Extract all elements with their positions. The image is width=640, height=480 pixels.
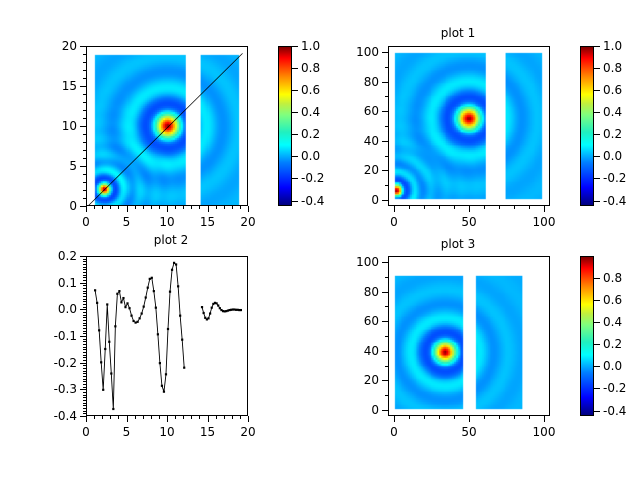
y-major-tick bbox=[80, 416, 86, 417]
x-minor-tick bbox=[191, 416, 192, 419]
y-minor-tick bbox=[83, 275, 86, 276]
y-minor-tick bbox=[83, 118, 86, 119]
x-minor-tick bbox=[199, 206, 200, 209]
y-minor-tick bbox=[83, 333, 86, 334]
panel-title-bottom-left: plot 2 bbox=[96, 234, 246, 246]
colorbar-tick-label: 0.2 bbox=[301, 128, 320, 140]
x-minor-tick bbox=[232, 416, 233, 419]
colorbar-top-right bbox=[580, 46, 594, 206]
x-minor-tick bbox=[175, 416, 176, 419]
colorbar-tick bbox=[292, 156, 298, 157]
y-minor-tick bbox=[83, 102, 86, 103]
x-minor-tick bbox=[191, 206, 192, 209]
colorbar-tick-label: -0.2 bbox=[603, 382, 626, 394]
x-minor-tick bbox=[514, 416, 515, 419]
axes-bottom-left[interactable] bbox=[86, 256, 248, 416]
colorbar-tick-label: 0.8 bbox=[301, 62, 320, 74]
y-minor-tick bbox=[83, 341, 86, 342]
x-major-tick bbox=[248, 416, 249, 422]
colorbar-tick bbox=[594, 156, 600, 157]
y-minor-tick bbox=[83, 405, 86, 406]
y-minor-tick bbox=[83, 293, 86, 294]
x-tick-label: 100 bbox=[519, 426, 569, 438]
y-minor-tick bbox=[83, 352, 86, 353]
x-tick-label: 50 bbox=[444, 426, 494, 438]
x-minor-tick bbox=[118, 206, 119, 209]
y-minor-tick bbox=[83, 259, 86, 260]
y-major-tick bbox=[80, 126, 86, 127]
x-major-tick bbox=[208, 206, 209, 212]
x-major-tick bbox=[544, 416, 545, 422]
colorbar-tick bbox=[292, 90, 298, 91]
x-minor-tick bbox=[216, 416, 217, 419]
x-minor-tick bbox=[484, 206, 485, 209]
colorbar-tick-label: 0.0 bbox=[603, 150, 622, 162]
x-minor-tick bbox=[454, 416, 455, 419]
y-minor-tick bbox=[83, 190, 86, 191]
colorbar-tick bbox=[594, 344, 600, 345]
y-minor-tick bbox=[83, 315, 86, 316]
y-minor-tick bbox=[83, 150, 86, 151]
y-minor-tick bbox=[83, 397, 86, 398]
colorbar-tick bbox=[594, 201, 600, 202]
y-minor-tick bbox=[83, 288, 86, 289]
y-minor-tick bbox=[83, 384, 86, 385]
y-major-tick bbox=[80, 46, 86, 47]
x-major-tick bbox=[127, 206, 128, 212]
x-minor-tick bbox=[110, 416, 111, 419]
y-tick-label: 20 bbox=[332, 374, 379, 386]
colorbar-tick-label: 0.8 bbox=[603, 272, 622, 284]
x-minor-tick bbox=[151, 206, 152, 209]
y-minor-tick bbox=[83, 357, 86, 358]
y-major-tick bbox=[80, 363, 86, 364]
x-minor-tick bbox=[94, 206, 95, 209]
colorbar-tick-label: 0.2 bbox=[603, 128, 622, 140]
x-major-tick bbox=[394, 416, 395, 422]
y-minor-tick bbox=[385, 67, 388, 68]
x-minor-tick bbox=[454, 206, 455, 209]
y-tick-label: -0.1 bbox=[30, 330, 77, 342]
y-major-tick bbox=[382, 141, 388, 142]
colorbar-tick bbox=[594, 134, 600, 135]
x-major-tick bbox=[167, 206, 168, 212]
y-tick-label: 0 bbox=[332, 404, 379, 416]
y-minor-tick bbox=[83, 291, 86, 292]
y-major-tick bbox=[80, 86, 86, 87]
x-minor-tick bbox=[102, 206, 103, 209]
y-tick-label: 0 bbox=[332, 194, 379, 206]
x-minor-tick bbox=[183, 416, 184, 419]
x-major-tick bbox=[167, 416, 168, 422]
y-tick-label: 60 bbox=[332, 105, 379, 117]
y-minor-tick bbox=[83, 387, 86, 388]
y-minor-tick bbox=[83, 413, 86, 414]
y-minor-tick bbox=[83, 94, 86, 95]
overlay-diagonal-line bbox=[87, 47, 248, 206]
y-minor-tick bbox=[385, 336, 388, 337]
y-minor-tick bbox=[83, 349, 86, 350]
y-major-tick bbox=[382, 111, 388, 112]
y-minor-tick bbox=[83, 355, 86, 356]
y-tick-label: 80 bbox=[332, 286, 379, 298]
x-minor-tick bbox=[499, 206, 500, 209]
x-minor-tick bbox=[224, 416, 225, 419]
colorbar-tick bbox=[594, 300, 600, 301]
y-minor-tick bbox=[83, 368, 86, 369]
y-tick-label: -0.3 bbox=[30, 383, 77, 395]
colorbar-tick-label: -0.4 bbox=[603, 195, 626, 207]
y-tick-label: 0.1 bbox=[30, 277, 77, 289]
colorbar-tick bbox=[292, 201, 298, 202]
x-minor-tick bbox=[439, 416, 440, 419]
x-minor-tick bbox=[110, 206, 111, 209]
y-minor-tick bbox=[83, 158, 86, 159]
x-major-tick bbox=[86, 416, 87, 422]
x-major-tick bbox=[127, 416, 128, 422]
x-minor-tick bbox=[529, 206, 530, 209]
x-tick-label: 20 bbox=[223, 426, 273, 438]
y-minor-tick bbox=[83, 182, 86, 183]
colorbar-tick bbox=[594, 366, 600, 367]
y-major-tick bbox=[382, 321, 388, 322]
colorbar-tick bbox=[594, 411, 600, 412]
y-tick-label: 80 bbox=[332, 76, 379, 88]
y-major-tick bbox=[80, 336, 86, 337]
x-minor-tick bbox=[143, 206, 144, 209]
x-tick-label: 50 bbox=[444, 216, 494, 228]
colorbar-tick bbox=[292, 178, 298, 179]
y-tick-label: 5 bbox=[30, 160, 77, 172]
y-minor-tick bbox=[83, 312, 86, 313]
y-major-tick bbox=[80, 389, 86, 390]
y-minor-tick bbox=[83, 379, 86, 380]
y-minor-tick bbox=[83, 269, 86, 270]
y-major-tick bbox=[382, 200, 388, 201]
y-major-tick bbox=[382, 262, 388, 263]
colorbar-tick bbox=[594, 112, 600, 113]
y-minor-tick bbox=[83, 261, 86, 262]
x-minor-tick bbox=[232, 206, 233, 209]
y-minor-tick bbox=[83, 54, 86, 55]
y-tick-label: 100 bbox=[332, 256, 379, 268]
y-major-tick bbox=[382, 82, 388, 83]
x-minor-tick bbox=[135, 206, 136, 209]
x-minor-tick bbox=[135, 416, 136, 419]
y-minor-tick bbox=[83, 360, 86, 361]
y-tick-label: 60 bbox=[332, 315, 379, 327]
x-minor-tick bbox=[529, 416, 530, 419]
x-tick-label: 20 bbox=[223, 216, 273, 228]
x-minor-tick bbox=[151, 416, 152, 419]
y-tick-label: 0 bbox=[30, 200, 77, 212]
x-minor-tick bbox=[102, 416, 103, 419]
colorbar-tick-label: 0.0 bbox=[301, 150, 320, 162]
y-minor-tick bbox=[83, 267, 86, 268]
y-minor-tick bbox=[83, 317, 86, 318]
y-tick-label: 10 bbox=[30, 120, 77, 132]
colorbar-tick-label: 0.6 bbox=[603, 294, 622, 306]
colorbar-tick-label: -0.2 bbox=[603, 172, 626, 184]
x-major-tick bbox=[544, 206, 545, 212]
x-minor-tick bbox=[159, 206, 160, 209]
y-minor-tick bbox=[385, 156, 388, 157]
x-minor-tick bbox=[409, 416, 410, 419]
x-tick-label: 100 bbox=[519, 216, 569, 228]
y-minor-tick bbox=[83, 307, 86, 308]
x-minor-tick bbox=[199, 416, 200, 419]
colorbar-tick bbox=[594, 178, 600, 179]
y-minor-tick bbox=[83, 264, 86, 265]
y-minor-tick bbox=[83, 62, 86, 63]
colorbar-tick bbox=[594, 90, 600, 91]
y-major-tick bbox=[382, 380, 388, 381]
y-major-tick bbox=[80, 309, 86, 310]
y-minor-tick bbox=[83, 323, 86, 324]
y-tick-label: 100 bbox=[332, 46, 379, 58]
y-tick-label: 40 bbox=[332, 135, 379, 147]
y-minor-tick bbox=[83, 376, 86, 377]
y-minor-tick bbox=[83, 301, 86, 302]
x-minor-tick bbox=[224, 206, 225, 209]
colorbar-tick-label: 0.4 bbox=[603, 316, 622, 328]
y-minor-tick bbox=[83, 365, 86, 366]
x-minor-tick bbox=[514, 206, 515, 209]
y-minor-tick bbox=[83, 395, 86, 396]
colorbar-tick bbox=[594, 68, 600, 69]
y-minor-tick bbox=[83, 142, 86, 143]
colorbar-tick bbox=[594, 388, 600, 389]
x-major-tick bbox=[469, 206, 470, 212]
y-major-tick bbox=[382, 170, 388, 171]
y-major-tick bbox=[382, 292, 388, 293]
colorbar-tick-label: 1.0 bbox=[603, 40, 622, 52]
x-minor-tick bbox=[409, 206, 410, 209]
line-series-bottom-left bbox=[87, 257, 248, 416]
y-minor-tick bbox=[83, 411, 86, 412]
y-major-tick bbox=[80, 166, 86, 167]
y-minor-tick bbox=[385, 395, 388, 396]
y-major-tick bbox=[382, 52, 388, 53]
axes-top-right[interactable] bbox=[388, 46, 550, 206]
x-minor-tick bbox=[183, 206, 184, 209]
y-major-tick bbox=[382, 410, 388, 411]
y-minor-tick bbox=[83, 403, 86, 404]
x-minor-tick bbox=[240, 416, 241, 419]
y-minor-tick bbox=[83, 408, 86, 409]
y-minor-tick bbox=[83, 381, 86, 382]
colorbar-tick-label: 0.6 bbox=[603, 84, 622, 96]
x-major-tick bbox=[208, 416, 209, 422]
x-minor-tick bbox=[118, 416, 119, 419]
y-minor-tick bbox=[83, 285, 86, 286]
y-minor-tick bbox=[385, 126, 388, 127]
y-minor-tick bbox=[83, 174, 86, 175]
y-minor-tick bbox=[83, 134, 86, 135]
y-minor-tick bbox=[385, 277, 388, 278]
y-minor-tick bbox=[83, 392, 86, 393]
y-minor-tick bbox=[83, 339, 86, 340]
y-minor-tick bbox=[385, 366, 388, 367]
y-minor-tick bbox=[385, 306, 388, 307]
y-major-tick bbox=[80, 283, 86, 284]
x-minor-tick bbox=[424, 416, 425, 419]
y-minor-tick bbox=[83, 299, 86, 300]
y-minor-tick bbox=[83, 371, 86, 372]
y-tick-label: 40 bbox=[332, 345, 379, 357]
x-minor-tick bbox=[439, 206, 440, 209]
y-tick-label: 20 bbox=[30, 40, 77, 52]
y-major-tick bbox=[80, 256, 86, 257]
colorbar-tick-label: -0.2 bbox=[301, 172, 324, 184]
y-tick-label: 0.2 bbox=[30, 250, 77, 262]
y-tick-label: 20 bbox=[332, 164, 379, 176]
colorbar-tick-label: 0.2 bbox=[603, 338, 622, 350]
y-tick-label: -0.4 bbox=[30, 410, 77, 422]
figure-canvas: 0510152005101520 -0.4-0.20.00.20.40.60.8… bbox=[0, 0, 640, 480]
colorbar-tick-label: 0.6 bbox=[301, 84, 320, 96]
colorbar-tick-label: 1.0 bbox=[301, 40, 320, 52]
colorbar-bottom-right bbox=[580, 256, 594, 416]
y-minor-tick bbox=[83, 344, 86, 345]
axes-top-left[interactable] bbox=[86, 46, 248, 206]
colorbar-tick bbox=[292, 112, 298, 113]
y-minor-tick bbox=[83, 328, 86, 329]
y-minor-tick bbox=[83, 198, 86, 199]
colorbar-tick-label: -0.4 bbox=[603, 405, 626, 417]
x-minor-tick bbox=[143, 416, 144, 419]
colorbar-tick-label: 0.4 bbox=[301, 106, 320, 118]
x-major-tick bbox=[394, 206, 395, 212]
colorbar-tick bbox=[292, 134, 298, 135]
y-minor-tick bbox=[83, 272, 86, 273]
x-minor-tick bbox=[159, 416, 160, 419]
x-major-tick bbox=[248, 206, 249, 212]
y-minor-tick bbox=[83, 277, 86, 278]
x-tick-label: 0 bbox=[369, 426, 419, 438]
colorbar-tick bbox=[594, 322, 600, 323]
y-minor-tick bbox=[83, 331, 86, 332]
x-minor-tick bbox=[216, 206, 217, 209]
y-minor-tick bbox=[83, 70, 86, 71]
y-minor-tick bbox=[83, 304, 86, 305]
colorbar-tick bbox=[292, 46, 298, 47]
colorbar-tick-label: -0.4 bbox=[301, 195, 324, 207]
x-minor-tick bbox=[424, 206, 425, 209]
y-tick-label: 15 bbox=[30, 80, 77, 92]
heatmap-image-top-right bbox=[389, 47, 549, 205]
x-minor-tick bbox=[240, 206, 241, 209]
heatmap-image-bottom-right bbox=[389, 257, 549, 415]
y-minor-tick bbox=[83, 325, 86, 326]
colorbar-tick bbox=[594, 278, 600, 279]
y-tick-label: 0.0 bbox=[30, 303, 77, 315]
colorbar-tick-label: 0.8 bbox=[603, 62, 622, 74]
x-minor-tick bbox=[94, 416, 95, 419]
y-minor-tick bbox=[83, 320, 86, 321]
colorbar-top-left bbox=[278, 46, 292, 206]
colorbar-tick-label: 0.0 bbox=[603, 360, 622, 372]
x-minor-tick bbox=[484, 416, 485, 419]
y-major-tick bbox=[80, 206, 86, 207]
y-minor-tick bbox=[83, 110, 86, 111]
y-minor-tick bbox=[83, 78, 86, 79]
colorbar-tick bbox=[292, 68, 298, 69]
y-minor-tick bbox=[385, 96, 388, 97]
y-minor-tick bbox=[385, 185, 388, 186]
y-minor-tick bbox=[83, 280, 86, 281]
x-major-tick bbox=[86, 206, 87, 212]
colorbar-tick bbox=[594, 46, 600, 47]
panel-title-bottom-right: plot 3 bbox=[398, 238, 518, 250]
x-minor-tick bbox=[175, 206, 176, 209]
y-tick-label: -0.2 bbox=[30, 357, 77, 369]
x-major-tick bbox=[469, 416, 470, 422]
y-minor-tick bbox=[83, 347, 86, 348]
y-major-tick bbox=[382, 351, 388, 352]
y-minor-tick bbox=[83, 373, 86, 374]
x-minor-tick bbox=[499, 416, 500, 419]
colorbar-tick-label: 0.4 bbox=[603, 106, 622, 118]
axes-bottom-right[interactable] bbox=[388, 256, 550, 416]
y-minor-tick bbox=[83, 296, 86, 297]
y-minor-tick bbox=[83, 400, 86, 401]
x-tick-label: 0 bbox=[369, 216, 419, 228]
panel-title-top-right: plot 1 bbox=[398, 27, 518, 39]
